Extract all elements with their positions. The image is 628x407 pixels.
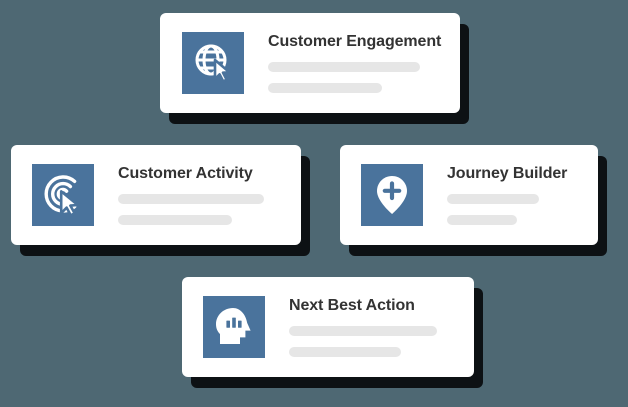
skeleton-bar xyxy=(118,215,232,225)
card-customer-activity[interactable]: Customer Activity xyxy=(11,145,301,245)
card-collage: Customer Engagement Customer Activity xyxy=(0,0,628,407)
map-pin-plus-icon xyxy=(361,164,423,226)
skeleton-placeholder xyxy=(289,326,456,357)
globe-cursor-icon xyxy=(182,32,244,94)
skeleton-placeholder xyxy=(268,62,442,93)
card-next-best-action[interactable]: Next Best Action xyxy=(182,277,474,377)
head-analytics-icon xyxy=(203,296,265,358)
skeleton-bar xyxy=(447,194,539,204)
card-body: Next Best Action xyxy=(265,297,456,358)
skeleton-placeholder xyxy=(447,194,582,225)
card-body: Customer Engagement xyxy=(244,33,442,94)
skeleton-bar xyxy=(268,83,382,93)
click-target-cursor-icon xyxy=(32,164,94,226)
skeleton-bar xyxy=(268,62,420,72)
card-journey-builder[interactable]: Journey Builder xyxy=(340,145,598,245)
skeleton-bar xyxy=(118,194,264,204)
card-title: Journey Builder xyxy=(447,165,582,183)
card-title: Customer Activity xyxy=(118,165,283,183)
card-customer-engagement[interactable]: Customer Engagement xyxy=(160,13,460,113)
skeleton-placeholder xyxy=(118,194,283,225)
skeleton-bar xyxy=(289,326,437,336)
card-title: Next Best Action xyxy=(289,297,456,315)
skeleton-bar xyxy=(447,215,517,225)
skeleton-bar xyxy=(289,347,401,357)
card-title: Customer Engagement xyxy=(268,33,442,51)
card-body: Customer Activity xyxy=(94,165,283,226)
card-body: Journey Builder xyxy=(423,165,582,226)
